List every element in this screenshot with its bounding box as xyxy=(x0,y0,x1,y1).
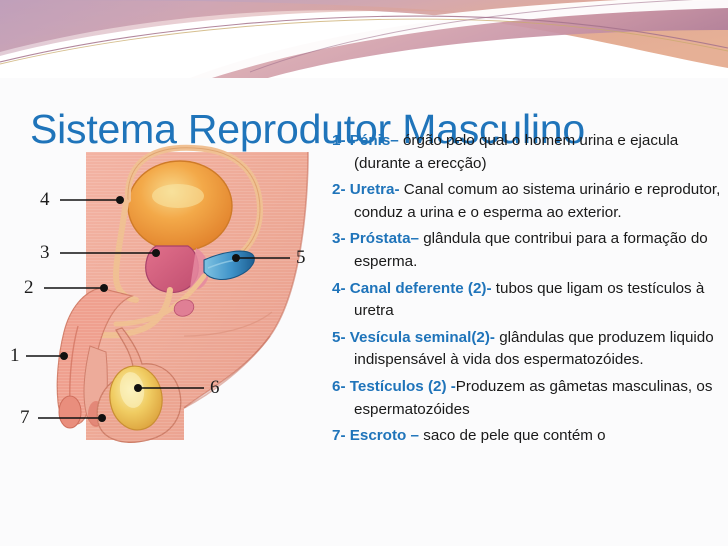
item-number: 3- xyxy=(332,230,346,247)
item-number: 6- xyxy=(332,378,346,395)
diagram-label-3: 3 xyxy=(40,243,50,262)
item-number: 5- xyxy=(332,329,346,346)
item-description: órgão pelo qual o homem urina e ejacula … xyxy=(354,132,678,172)
slide-canvas: Sistema Reprodutor Masculino xyxy=(0,0,728,546)
diagram-label-5: 5 xyxy=(296,248,306,267)
item-dash: – xyxy=(411,230,419,247)
item-dash: – xyxy=(411,427,419,444)
list-item: 4- Canal deferente (2)- tubos que ligam … xyxy=(332,278,724,323)
item-dash: – xyxy=(390,132,398,149)
list-item: 5- Vesícula seminal(2)- glândulas que pr… xyxy=(332,327,724,372)
male-reproductive-system-diagram: 4 3 2 1 7 6 5 xyxy=(8,140,324,446)
item-number: 7- xyxy=(332,427,346,444)
list-item: 3- Próstata– glândula que contribui para… xyxy=(332,228,724,273)
list-item: 7- Escroto – saco de pele que contém o xyxy=(332,425,724,448)
diagram-label-7: 7 xyxy=(20,408,30,427)
item-term: Próstata xyxy=(350,230,411,247)
item-number: 2- xyxy=(332,181,346,198)
item-term: Uretra xyxy=(350,181,395,198)
list-item: 6- Testículos (2) -Produzem as gâmetas m… xyxy=(332,376,724,421)
diagram-label-2: 2 xyxy=(24,278,34,297)
item-term: Canal deferente (2)- xyxy=(350,280,492,297)
item-number: 4- xyxy=(332,280,346,297)
item-term: Testículos (2) - xyxy=(350,378,456,395)
diagram-label-1: 1 xyxy=(10,346,20,365)
item-dash: - xyxy=(395,181,400,198)
organ-description-list: 1- Pénis– órgão pelo qual o homem urina … xyxy=(332,130,724,452)
item-number: 1- xyxy=(332,132,346,149)
item-term: Vesícula seminal(2)- xyxy=(350,329,495,346)
diagram-label-4: 4 xyxy=(40,190,50,209)
item-term: Escroto xyxy=(350,427,407,444)
diagram-label-6: 6 xyxy=(210,378,220,397)
item-description: Canal comum ao sistema urinário e reprod… xyxy=(354,181,720,221)
list-item: 1- Pénis– órgão pelo qual o homem urina … xyxy=(332,130,724,175)
list-item: 2- Uretra- Canal comum ao sistema urinár… xyxy=(332,179,724,224)
decorative-wave-banner xyxy=(0,0,728,78)
item-term: Pénis xyxy=(350,132,391,149)
item-description: saco de pele que contém o xyxy=(423,427,605,444)
